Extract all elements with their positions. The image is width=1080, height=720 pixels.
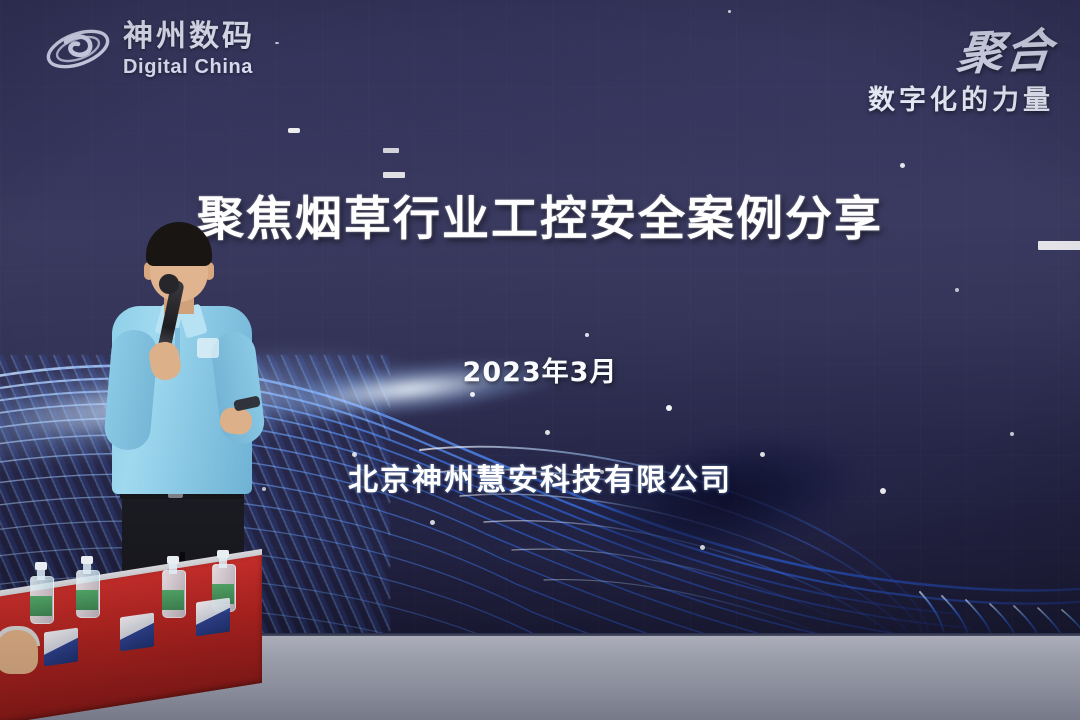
water-bottle xyxy=(76,556,98,618)
bottle-label xyxy=(162,590,184,610)
speaker-shirt-logo xyxy=(197,338,219,358)
bottle-label xyxy=(76,590,98,610)
bottle-cap xyxy=(81,556,93,564)
conference-stage-photo: 神州数码 Digital China 聚合 数字化的力量 聚焦烟草行业工控安全案… xyxy=(0,0,1080,720)
water-bottle xyxy=(30,562,52,624)
attendee-seated xyxy=(0,630,38,674)
name-card xyxy=(120,613,154,652)
bottle-cap xyxy=(167,556,179,564)
speaker-hair xyxy=(146,222,212,266)
bottle-cap xyxy=(217,550,229,558)
name-card xyxy=(44,628,78,667)
name-card xyxy=(196,598,230,637)
bottle-cap xyxy=(35,562,47,570)
water-bottle xyxy=(162,556,184,618)
bottle-label xyxy=(30,596,52,616)
